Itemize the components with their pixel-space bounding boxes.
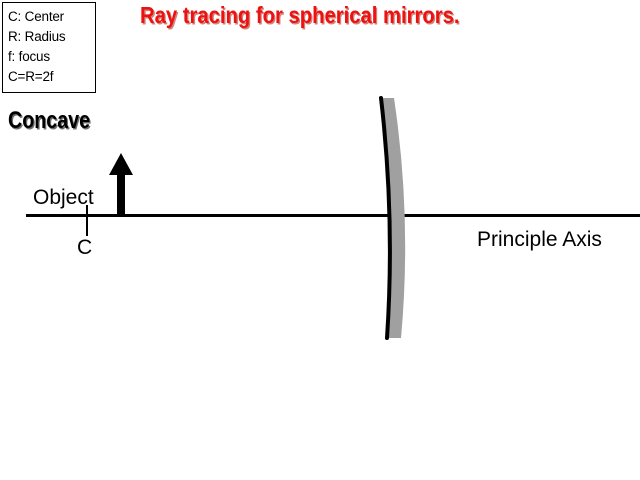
legend-line-focus: f: focus: [8, 47, 95, 67]
center-point-label: C: [77, 236, 92, 260]
ray-tracing-diagram: C: Center R: Radius f: focus C=R=2f Ray …: [0, 0, 640, 480]
legend-box: C: Center R: Radius f: focus C=R=2f: [2, 2, 96, 93]
center-tick-mark: [86, 205, 88, 236]
mirror-type-label: Concave: [8, 108, 90, 134]
object-label: Object: [33, 186, 94, 210]
legend-line-center: C: Center: [8, 7, 95, 27]
legend-line-radius: R: Radius: [8, 27, 95, 47]
concave-mirror: [355, 88, 435, 348]
object-arrow-icon: [108, 153, 134, 217]
legend-line-relation: C=R=2f: [8, 67, 95, 87]
diagram-title: Ray tracing for spherical mirrors.: [140, 2, 459, 28]
principal-axis-label: Principle Axis: [477, 228, 602, 252]
